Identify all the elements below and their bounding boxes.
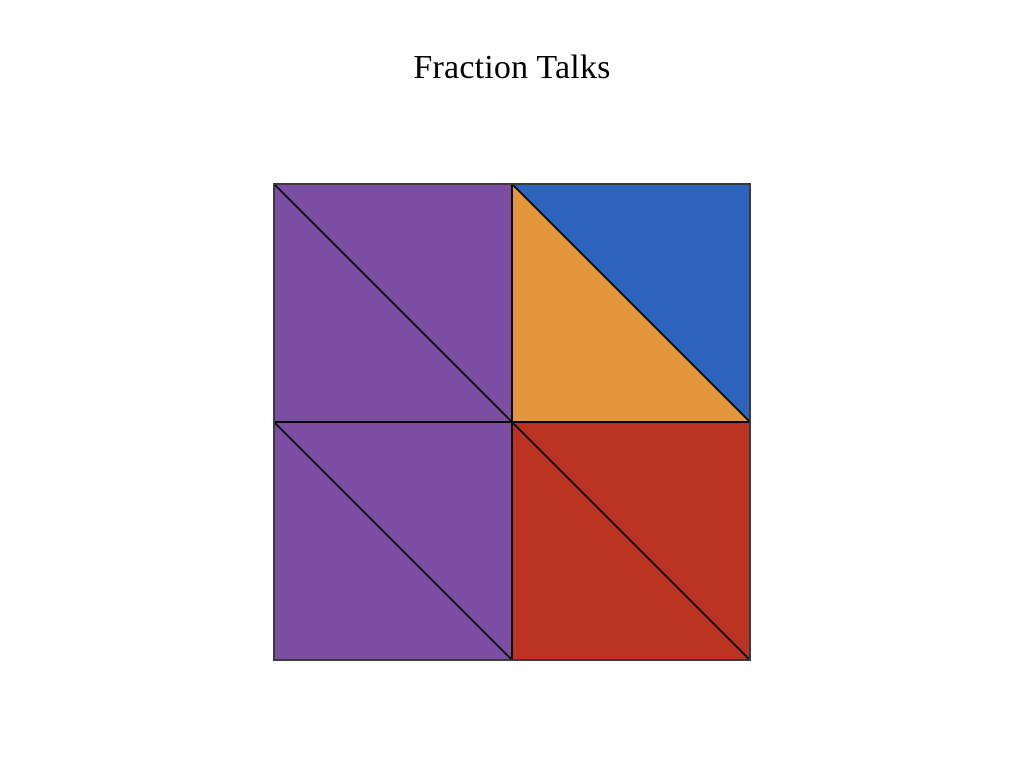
fraction-figure-container	[273, 183, 751, 661]
slide-canvas: Fraction Talks	[0, 0, 1024, 768]
page-title: Fraction Talks	[0, 48, 1024, 88]
fraction-talks-square	[273, 183, 751, 661]
